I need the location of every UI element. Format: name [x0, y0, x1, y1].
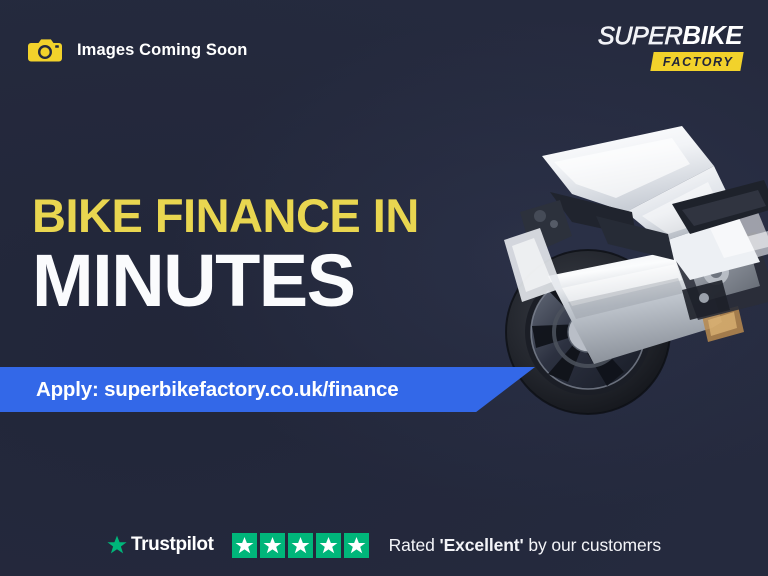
headline-line-2: MINUTES — [32, 243, 552, 318]
trustpilot-star-rating — [232, 533, 369, 558]
headline-block: BIKE FINANCE IN MINUTES — [32, 192, 552, 318]
apply-cta-banner[interactable]: Apply: superbikefactory.co.uk/finance — [0, 367, 535, 412]
logo-factory-text: FACTORY — [663, 55, 733, 69]
apply-url-text: Apply: superbikefactory.co.uk/finance — [0, 378, 398, 402]
images-coming-soon-group: Images Coming Soon — [28, 36, 247, 64]
rating-word: 'Excellent' — [440, 535, 524, 555]
trustpilot-brand: Trustpilot — [107, 534, 214, 556]
trustpilot-footer: Trustpilot Rated 'Excellent' by our cust… — [0, 514, 768, 576]
top-bar: Images Coming Soon SUPER BIKE FACTORY — [0, 0, 768, 100]
rating-suffix: by our customers — [528, 535, 661, 555]
logo-super-text: SUPER — [598, 24, 683, 49]
star-2 — [260, 533, 285, 558]
logo-factory-plate: FACTORY — [650, 52, 744, 71]
trustpilot-wordmark: Trustpilot — [131, 534, 214, 556]
rating-prefix: Rated — [389, 535, 435, 555]
camera-icon — [28, 36, 64, 64]
logo-factory-banner: FACTORY — [600, 52, 742, 71]
images-coming-soon-label: Images Coming Soon — [77, 41, 247, 60]
promo-banner: Images Coming Soon SUPER BIKE FACTORY — [0, 0, 768, 576]
trustpilot-rating-text: Rated 'Excellent' by our customers — [389, 535, 661, 556]
superbike-factory-logo: SUPER BIKE FACTORY — [600, 22, 742, 78]
star-4 — [316, 533, 341, 558]
trustpilot-star-icon — [107, 535, 127, 555]
logo-bike-text: BIKE — [682, 22, 742, 48]
headline-line-1: BIKE FINANCE IN — [32, 192, 552, 239]
star-5 — [344, 533, 369, 558]
logo-wordmark-row: SUPER BIKE — [600, 22, 742, 49]
star-3 — [288, 533, 313, 558]
star-1 — [232, 533, 257, 558]
